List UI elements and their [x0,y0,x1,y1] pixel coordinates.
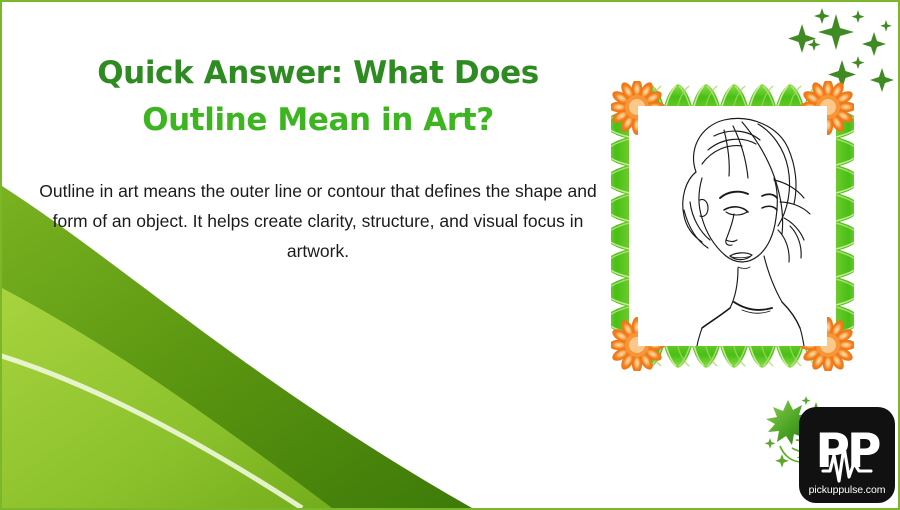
page-title: Quick Answer: What Does Outline Mean in … [28,50,608,144]
body-paragraph: Outline in art means the outer line or c… [28,176,608,266]
infographic-canvas: Quick Answer: What Does Outline Mean in … [0,0,900,510]
brand-logo[interactable]: PP pickuppulse.com [762,394,898,506]
text-column: Quick Answer: What Does Outline Mean in … [28,50,608,266]
headline-line-1: Quick Answer: What Does [28,50,608,97]
headline-line-2: Outline Mean in Art? [28,97,608,144]
logo-badge[interactable]: PP pickuppulse.com [799,407,895,503]
framed-artwork [611,81,854,371]
logo-url-text: pickuppulse.com [799,484,895,496]
woman-line-art-portrait [638,106,827,346]
